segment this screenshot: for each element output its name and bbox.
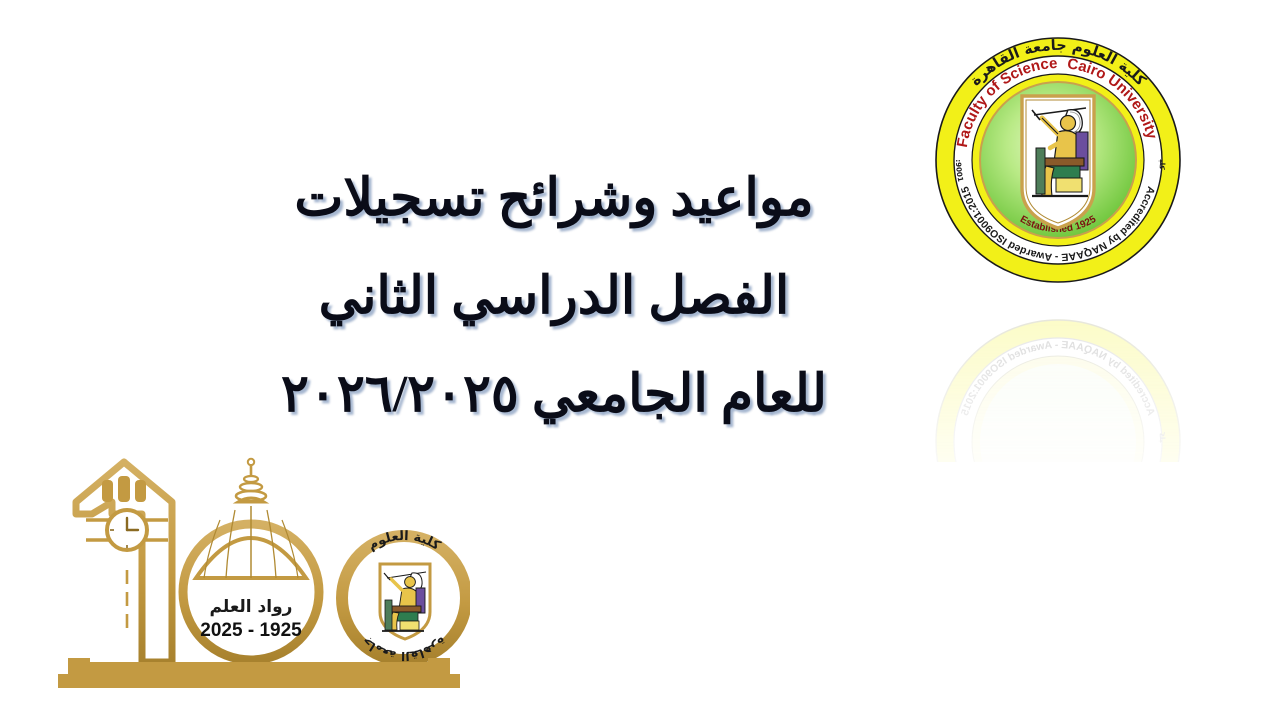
seal-shield <box>1022 96 1094 228</box>
seal-logo-reflection: كلية معتمدة من الهيئة القومية لضمان جودة… <box>918 302 1198 462</box>
dome-glyph: رواد العلم 1925 - 2025 <box>183 459 319 660</box>
centenary-pedestal <box>58 658 460 688</box>
centenary-100-logo: رواد العلم 1925 - 2025 كلية العلوم جامعة… <box>46 452 470 704</box>
faculty-seal-logo: كلية العلوم جامعة القاهرة 2015:9001الأيز… <box>918 20 1198 300</box>
clock-tower-glyph <box>76 462 172 662</box>
title-line-2: الفصل الدراسي الثاني <box>276 248 832 346</box>
centenary-motto: رواد العلم <box>210 597 293 617</box>
title-line-3: للعام الجامعي ٢٠٢٦/٢٠٢٥ <box>276 346 832 444</box>
title-line-1: مواعيد وشرائح تسجيلات <box>276 150 832 248</box>
page-title: مواعيد وشرائح تسجيلات الفصل الدراسي الثا… <box>276 150 832 444</box>
centenary-shield <box>380 564 430 639</box>
centenary-years: 1925 - 2025 <box>200 620 302 641</box>
svg-text:كلية معتمدة من الهيئة القومية: كلية معتمدة من الهيئة القومية لضمان جودة… <box>918 431 1167 462</box>
slide-canvas: مواعيد وشرائح تسجيلات الفصل الدراسي الثا… <box>0 0 1280 720</box>
svg-text:Accredited by NAQAAE - Awarded: Accredited by NAQAAE - Awarded ISO9001:2… <box>959 339 1157 417</box>
faculty-seal-ring-glyph: كلية العلوم جامعة القاهرة <box>342 529 466 663</box>
